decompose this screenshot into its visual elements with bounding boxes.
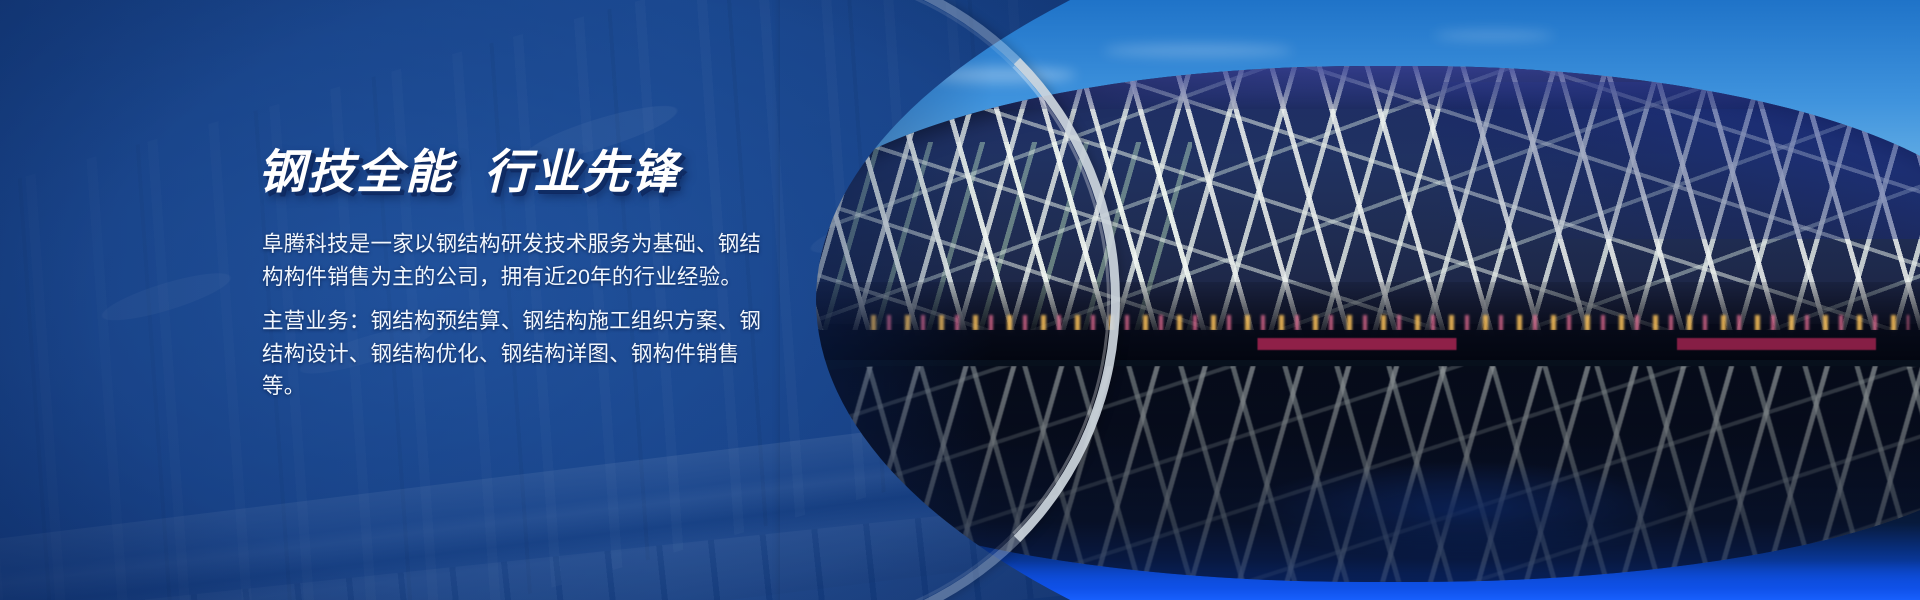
stadium-photo-panel <box>816 0 1920 600</box>
photo-edge-grade <box>816 0 1920 600</box>
banner-paragraph-services: 主营业务：钢结构预结算、钢结构施工组织方案、钢结构设计、钢结构优化、钢结构详图、… <box>262 305 774 403</box>
banner-content: 钢技全能 行业先锋 阜腾科技是一家以钢结构研发技术服务为基础、钢结构构件销售为主… <box>258 0 778 600</box>
stadium-photo <box>816 0 1920 600</box>
hero-banner: 钢技全能 行业先锋 阜腾科技是一家以钢结构研发技术服务为基础、钢结构构件销售为主… <box>0 0 1920 600</box>
banner-paragraph-company: 阜腾科技是一家以钢结构研发技术服务为基础、钢结构构件销售为主的公司，拥有近20年… <box>262 228 774 293</box>
banner-headline: 钢技全能 行业先锋 <box>258 148 778 195</box>
